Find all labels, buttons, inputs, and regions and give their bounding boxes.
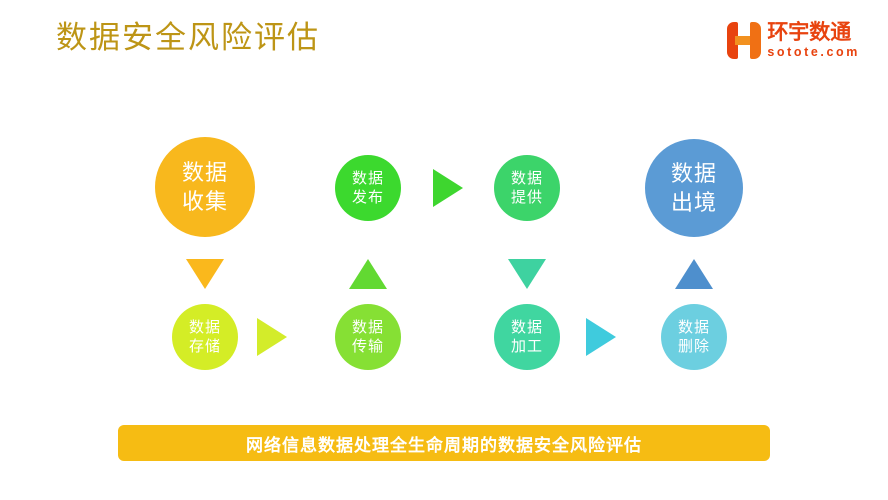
summary-banner: 网络信息数据处理全生命周期的数据安全风险评估 (118, 425, 770, 461)
triangle-right-icon (433, 169, 463, 207)
triangle-up-icon (675, 259, 713, 289)
node-label-line1: 数据 (511, 318, 543, 337)
node-store[interactable]: 数据存储 (172, 304, 238, 370)
node-label-line1: 数据 (511, 169, 543, 188)
node-label-line2: 提供 (511, 188, 543, 207)
triangle-down-icon (186, 259, 224, 289)
node-export[interactable]: 数据出境 (645, 139, 743, 237)
node-label-line2: 出境 (671, 188, 717, 217)
summary-banner-label: 网络信息数据处理全生命周期的数据安全风险评估 (246, 431, 642, 456)
node-label-line1: 数据 (182, 158, 228, 187)
triangle-right-icon (586, 318, 616, 356)
node-label-line2: 加工 (511, 337, 543, 356)
node-label-line1: 数据 (189, 318, 221, 337)
node-label-line1: 数据 (671, 159, 717, 188)
node-label-line1: 数据 (352, 318, 384, 337)
node-label-line2: 传输 (352, 337, 384, 356)
node-label-line1: 数据 (352, 169, 384, 188)
triangle-down-icon (508, 259, 546, 289)
node-label-line2: 删除 (678, 337, 710, 356)
triangle-up-icon (349, 259, 387, 289)
node-transmit[interactable]: 数据传输 (335, 304, 401, 370)
lifecycle-diagram: 数据收集数据发布数据提供数据出境数据存储数据传输数据加工数据删除 (0, 0, 888, 420)
node-label-line1: 数据 (678, 318, 710, 337)
triangle-right-icon (257, 318, 287, 356)
node-label-line2: 收集 (182, 187, 228, 216)
node-process[interactable]: 数据加工 (494, 304, 560, 370)
node-label-line2: 发布 (352, 188, 384, 207)
node-collect[interactable]: 数据收集 (155, 137, 255, 237)
node-label-line2: 存储 (189, 337, 221, 356)
node-delete[interactable]: 数据删除 (661, 304, 727, 370)
node-publish[interactable]: 数据发布 (335, 155, 401, 221)
node-provide[interactable]: 数据提供 (494, 155, 560, 221)
